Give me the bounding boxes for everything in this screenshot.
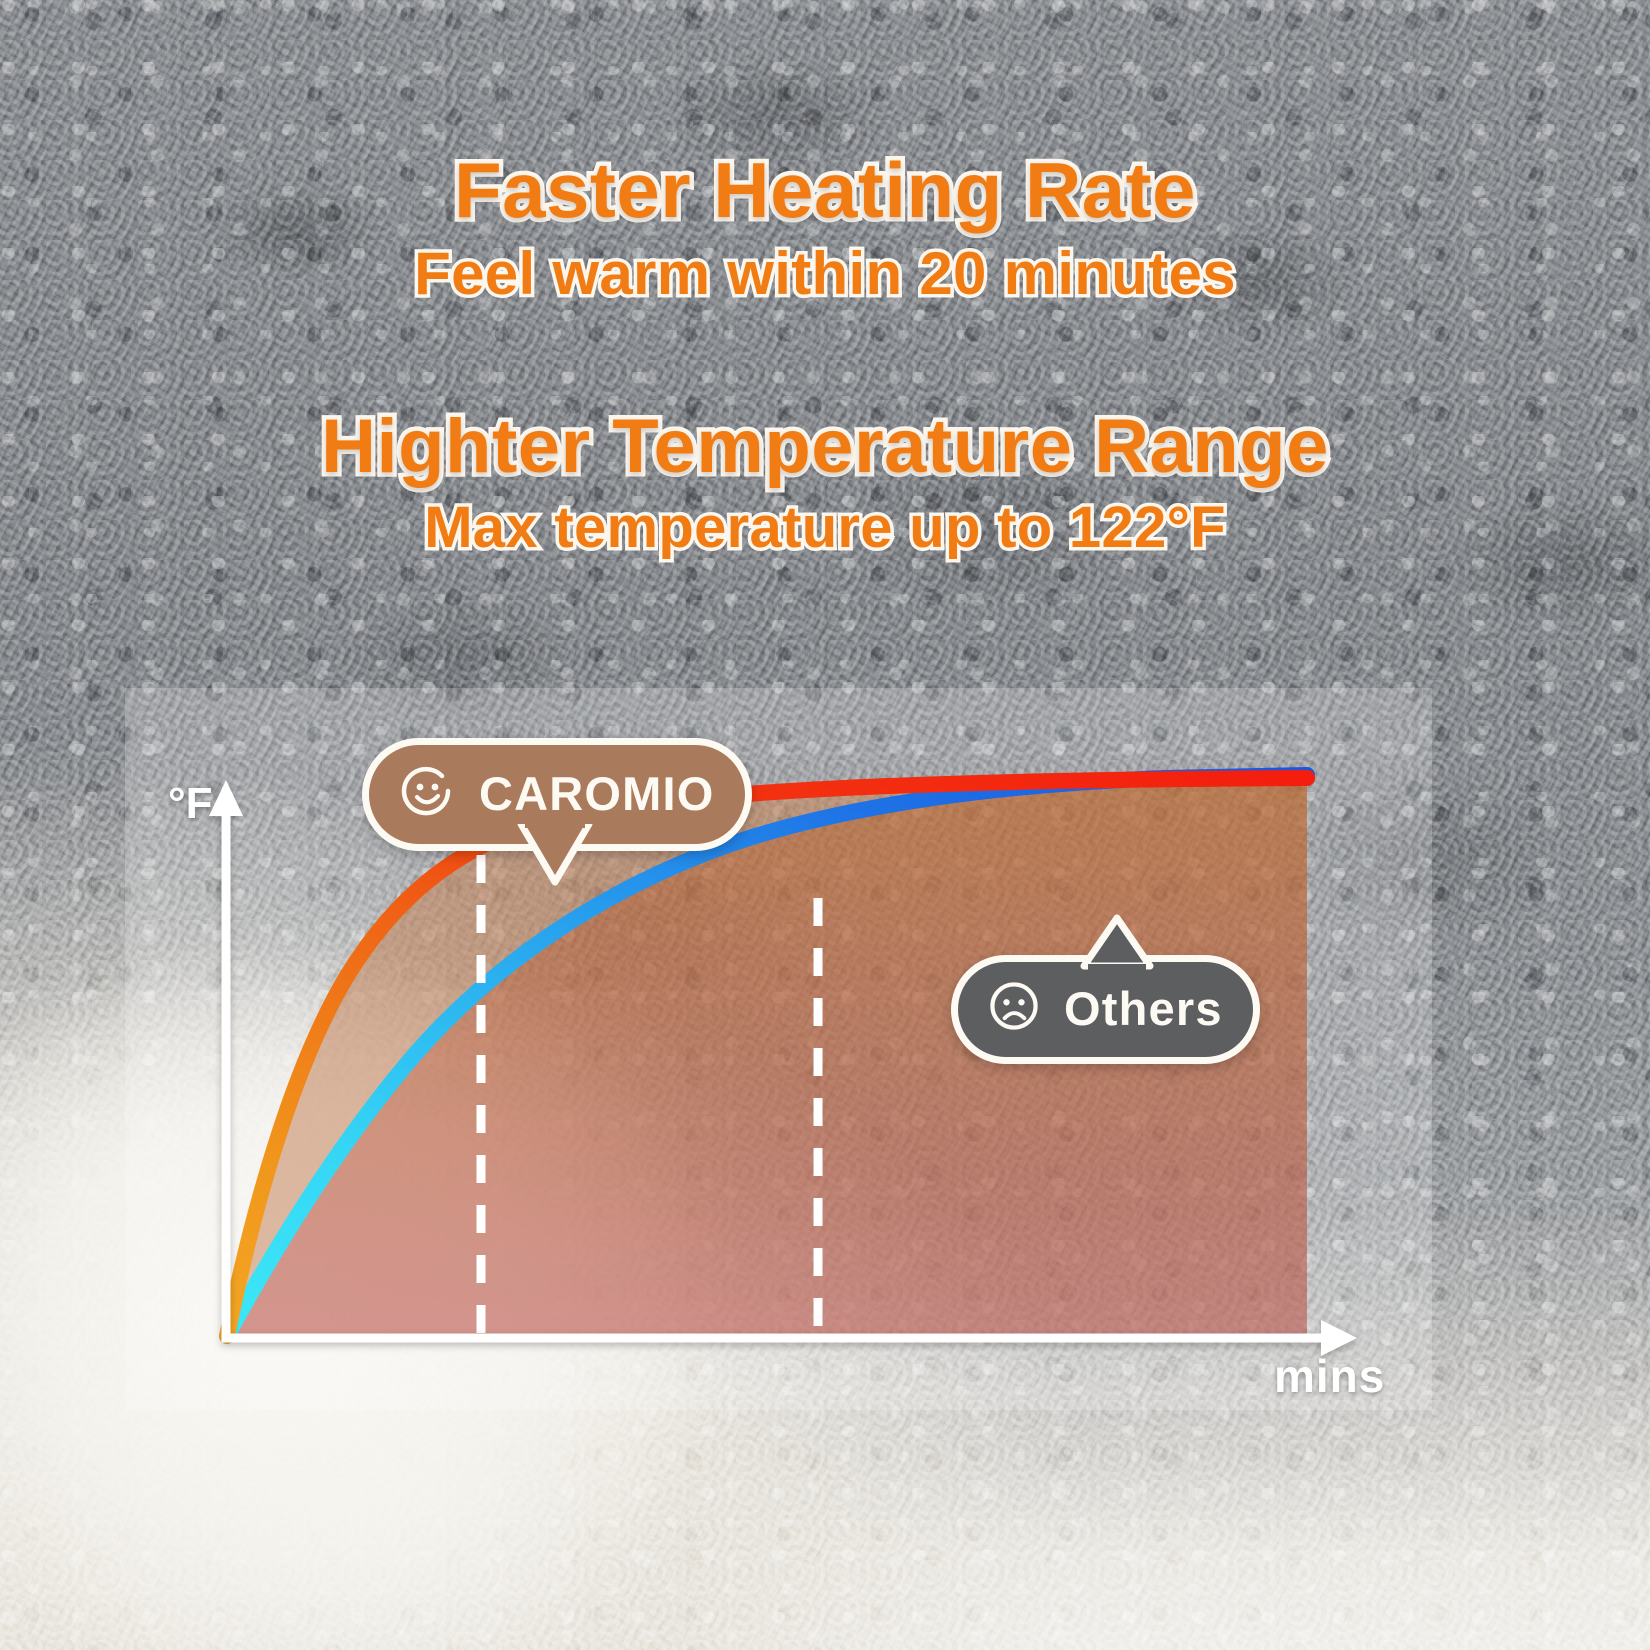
product-infographic: Faster Heating Rate Feel warm within 20 … [0,0,1650,1650]
y-axis-label: °F [168,781,212,827]
legend-badge-others-label: Others [1064,985,1223,1033]
subtitle-temp-range: Max temperature up to 122°F [0,495,1650,561]
sad-face-icon [984,976,1044,1041]
legend-badge-others[interactable]: Others [951,955,1260,1064]
legend-badge-caromio-label: CAROMIO [479,770,715,818]
x-axis-label: mins [1274,1352,1385,1400]
page-title-temp-range: Highter Temperature Range [0,405,1650,489]
smiley-face-icon [395,759,459,828]
others-badge-tail [1078,914,1156,974]
legend-badge-caromio[interactable]: CAROMIO [362,738,752,851]
page-title-heating-rate: Faster Heating Rate [0,147,1650,233]
subtitle-heating-rate: Feel warm within 20 minutes [0,240,1650,308]
caromio-badge-tail [515,824,595,890]
